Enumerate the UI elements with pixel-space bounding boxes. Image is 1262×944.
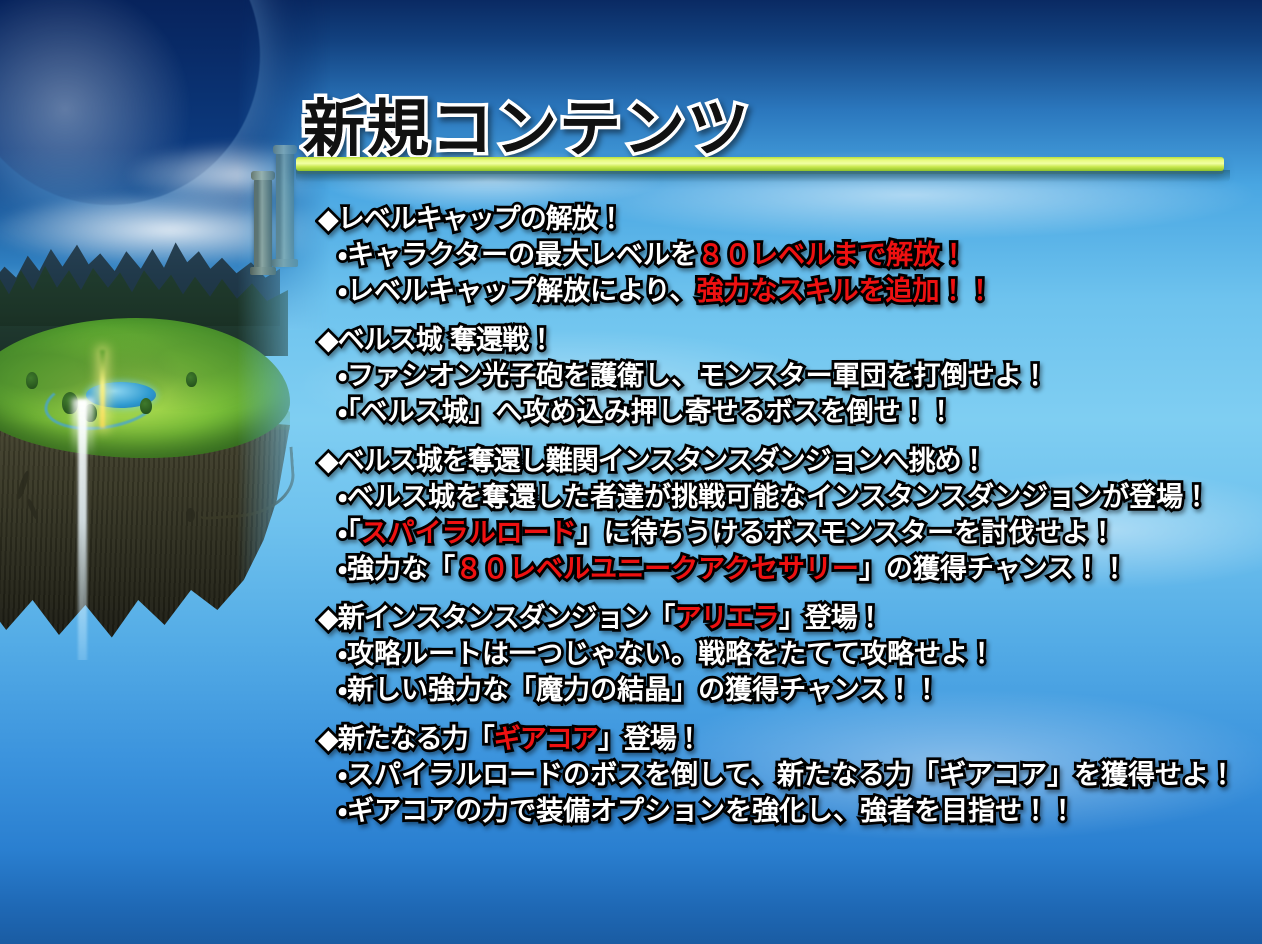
body-text: ◆ベルス城 奪還戦！ — [318, 325, 554, 356]
section-heading: ◆新インスタンスダンジョン「アリエラ」登場！ — [318, 605, 1258, 632]
highlight-text: ギアコア — [494, 724, 598, 755]
body-text: ・ギアコアの力で装備オプションを強化し、強者を目指せ！！ — [338, 796, 1076, 827]
waterfall — [78, 400, 87, 660]
divider-bar-shadow — [296, 170, 1230, 182]
promo-banner: 新規コンテンツ 新規コンテンツ ◆レベルキャップの解放！・キャラクターの最大レベ… — [0, 0, 1262, 944]
section-heading: ◆レベルキャップの解放！ — [318, 206, 1258, 233]
body-text: ・スパイラルロードのボスを倒して、新たなる力「ギアコア」を獲得せよ！ — [338, 760, 1236, 791]
floating-island-illustration — [0, 0, 330, 660]
section-heading: ◆ベルス城を奪還し難関インスタンスダンジョンへ挑め！ — [318, 448, 1258, 475]
light-beam — [100, 350, 105, 428]
section-bullet-item: ・ギアコアの力で装備オプションを強化し、強者を目指せ！！ — [318, 798, 1258, 825]
tree — [140, 398, 152, 414]
content-section: ◆レベルキャップの解放！・キャラクターの最大レベルを８０レベルまで解放！・レベル… — [318, 206, 1258, 305]
body-text: 」登場！ — [779, 603, 883, 634]
body-text: ・新しい強力な「魔力の結晶」の獲得チャンス！！ — [338, 675, 940, 706]
stone-tower — [254, 178, 272, 270]
body-text: ・攻略ルートは一つじゃない。戦略をたてて攻略せよ！ — [338, 639, 995, 670]
section-bullet-item: ・ベルス城を奪還した者達が挑戦可能なインスタンスダンジョンが登場！ — [318, 484, 1258, 511]
divider-bar — [296, 157, 1224, 171]
section-heading: ◆新たなる力「ギアコア」登場！ — [318, 726, 1258, 753]
tree — [186, 372, 197, 387]
section-bullet-item: ・強力な「８０レベルユニークアクセサリー」の獲得チャンス！！ — [318, 556, 1258, 583]
content-section: ◆新たなる力「ギアコア」登場！・スパイラルロードのボスを倒して、新たなる力「ギア… — [318, 726, 1258, 825]
section-bullet-item: ・新しい強力な「魔力の結晶」の獲得チャンス！！ — [318, 677, 1258, 704]
body-text: ◆ベルス城を奪還し難関インスタンスダンジョンへ挑め！ — [318, 446, 987, 477]
section-heading: ◆ベルス城 奪還戦！ — [318, 327, 1258, 354]
body-text: ・レベルキャップ解放により、 — [338, 276, 697, 307]
body-text: ◆新インスタンスダンジョン「 — [318, 603, 675, 634]
section-bullet-item: ・スパイラルロードのボスを倒して、新たなる力「ギアコア」を獲得せよ！ — [318, 762, 1258, 789]
cliff-ledge — [194, 447, 297, 521]
content-section: ◆ベルス城 奪還戦！・ファシオン光子砲を護衛し、モンスター軍団を打倒せよ！・「ベ… — [318, 327, 1258, 426]
page-title: 新規コンテンツ — [303, 78, 751, 168]
highlight-text: ８０レベルまで解放！ — [697, 240, 967, 271]
section-bullet-item: ・「ベルス城」へ攻め込み押し寄せるボスを倒せ！！ — [318, 399, 1258, 426]
body-text: 」の獲得チャンス！！ — [859, 554, 1128, 585]
stone-tower — [276, 152, 294, 262]
body-text: ・キャラクターの最大レベルを — [338, 240, 697, 271]
body-text: ・ファシオン光子砲を護衛し、モンスター軍団を打倒せよ！ — [338, 361, 1049, 392]
body-text: 」登場！ — [598, 724, 702, 755]
content-section: ◆ベルス城を奪還し難関インスタンスダンジョンへ挑め！・ベルス城を奪還した者達が挑… — [318, 448, 1258, 583]
highlight-text: 強力なスキルを追加！！ — [697, 276, 994, 307]
section-bullet-item: ・ファシオン光子砲を護衛し、モンスター軍団を打倒せよ！ — [318, 363, 1258, 390]
content-list: ◆レベルキャップの解放！・キャラクターの最大レベルを８０レベルまで解放！・レベル… — [318, 206, 1258, 847]
body-text: ・「 — [338, 518, 361, 549]
section-bullet-item: ・「スパイラルロード」に待ちうけるボスモンスターを討伐せよ！ — [318, 520, 1258, 547]
highlight-text: アリエラ — [675, 603, 779, 634]
floating-rock — [186, 508, 195, 522]
body-text: ・強力な「 — [338, 554, 455, 585]
body-text: ・「ベルス城」へ攻め込み押し寄せるボスを倒せ！！ — [338, 397, 955, 428]
section-bullet-item: ・攻略ルートは一つじゃない。戦略をたてて攻略せよ！ — [318, 641, 1258, 668]
body-text: ・ベルス城を奪還した者達が挑戦可能なインスタンスダンジョンが登場！ — [338, 482, 1210, 513]
body-text: ◆レベルキャップの解放！ — [318, 204, 624, 235]
highlight-text: スパイラルロード — [361, 518, 577, 549]
section-bullet-item: ・キャラクターの最大レベルを８０レベルまで解放！ — [318, 242, 1258, 269]
content-section: ◆新インスタンスダンジョン「アリエラ」登場！・攻略ルートは一つじゃない。戦略をた… — [318, 605, 1258, 704]
tree — [26, 372, 38, 389]
body-text: ◆新たなる力「 — [318, 724, 494, 755]
body-text: 」に待ちうけるボスモンスターを討伐せよ！ — [577, 518, 1116, 549]
highlight-text: ８０レベルユニークアクセサリー — [455, 554, 859, 585]
section-bullet-item: ・レベルキャップ解放により、強力なスキルを追加！！ — [318, 278, 1258, 305]
